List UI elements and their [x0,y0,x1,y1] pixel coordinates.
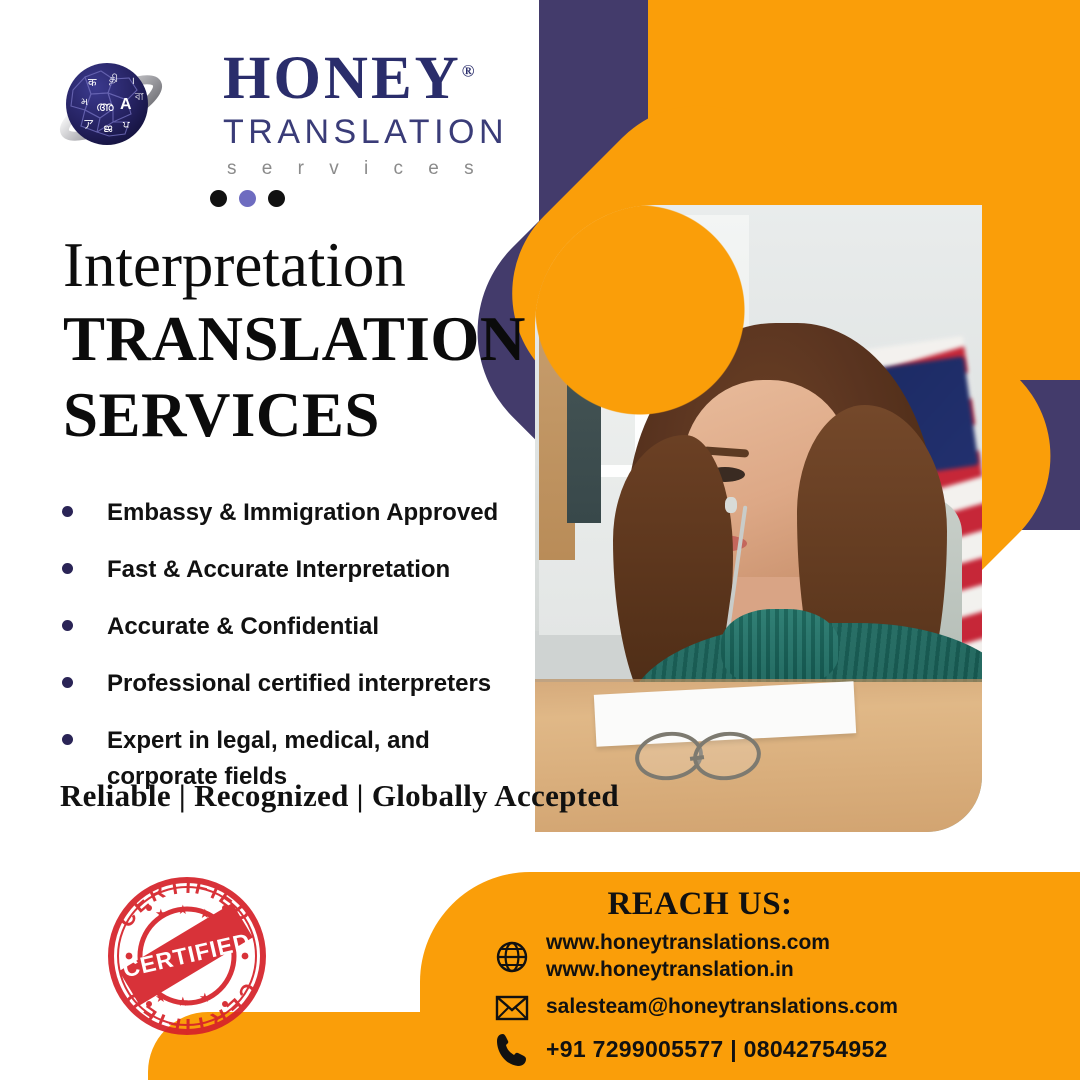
svg-text:বা: বা [134,92,145,103]
svg-text:।: । [131,76,135,87]
hero-photo-image [535,205,982,832]
logo-honey-text: HONEY® [223,48,508,109]
poster-canvas: क தி । મ അ A বা ア ജ ਪ HONEY® TRANSLATION… [0,0,1080,1080]
headline-bold-line2: SERVICES [63,382,526,449]
svg-text:★: ★ [177,902,189,917]
website-lines: www.honeytranslations.com www.honeytrans… [534,930,830,984]
contact-card: REACH US: www.honeytranslations.com www.… [420,872,1080,1080]
list-item: Fast & Accurate Interpretation [58,552,528,588]
turtleneck-collar [721,609,839,683]
svg-text:അ: അ [96,99,114,114]
logo-wordmark: HONEY® TRANSLATION s e r v i c e s [223,48,508,180]
headline-block: Interpretation TRANSLATION SERVICES [63,232,526,449]
logo-services-text: s e r v i c e s [223,158,508,180]
bullet-icon [62,734,73,745]
decorative-dots [210,190,285,207]
svg-text:ജ: ജ [103,123,113,135]
contact-list: www.honeytranslations.com www.honeytrans… [490,930,898,1078]
svg-text:મ: મ [81,97,88,108]
dot-3 [268,190,285,207]
svg-text:क: क [88,77,97,89]
tagline: Reliable | Recognized | Globally Accepte… [60,778,619,814]
list-item: Embassy & Immigration Approved [58,495,528,531]
svg-text:★: ★ [155,990,167,1005]
book-stack-dark [567,273,601,523]
list-item: Professional certified interpreters [58,666,528,702]
bullet-icon [62,563,73,574]
svg-text:ਪ: ਪ [122,120,130,131]
envelope-icon [490,994,534,1022]
svg-text:★: ★ [199,990,211,1005]
contact-row-phone[interactable]: +91 7299005577 | 08042754952 [490,1032,898,1068]
contact-row-email[interactable]: salesteam@honeytranslations.com [490,994,898,1022]
svg-text:ア: ア [83,119,94,131]
email-address[interactable]: salesteam@honeytranslations.com [534,994,898,1021]
registered-mark-icon: ® [462,62,475,81]
svg-text:★: ★ [155,906,167,921]
phone-icon [490,1032,534,1068]
svg-text:A: A [120,96,132,113]
svg-text:தி: தி [109,73,118,85]
globe-icon: क தி । મ അ A বা ア ജ ਪ [55,52,163,160]
contact-card-title: REACH US: [420,886,980,923]
svg-text:★: ★ [177,994,189,1009]
earphone-bud [725,497,737,513]
list-item: Accurate & Confidential [58,609,528,645]
svg-text:★: ★ [199,906,211,921]
website-line-1[interactable]: www.honeytranslations.com [546,930,830,957]
contact-row-website[interactable]: www.honeytranslations.com www.honeytrans… [490,930,898,984]
dot-1 [210,190,227,207]
headline-bold-line1: TRANSLATION [63,306,526,373]
list-item-label: Embassy & Immigration Approved [107,495,498,531]
bullet-icon [62,620,73,631]
website-line-2[interactable]: www.honeytranslation.in [546,957,830,984]
feature-list: Embassy & Immigration Approved Fast & Ac… [58,495,528,816]
certified-stamp-icon: CERTIFIED CERTIFIED ★★★ ★★★ CERTIFIED [103,872,271,1040]
list-item-label: Fast & Accurate Interpretation [107,552,450,588]
list-item-label: Accurate & Confidential [107,609,379,645]
logo-name: HONEY [223,45,462,112]
logo-translation-text: TRANSLATION [223,111,508,154]
phone-numbers[interactable]: +91 7299005577 | 08042754952 [534,1035,888,1064]
headline-script: Interpretation [63,232,526,298]
bullet-icon [62,677,73,688]
hero-photo [535,205,982,832]
globe-icon [490,940,534,974]
bullet-icon [62,506,73,517]
list-item-label: Professional certified interpreters [107,666,491,702]
dot-2 [239,190,256,207]
